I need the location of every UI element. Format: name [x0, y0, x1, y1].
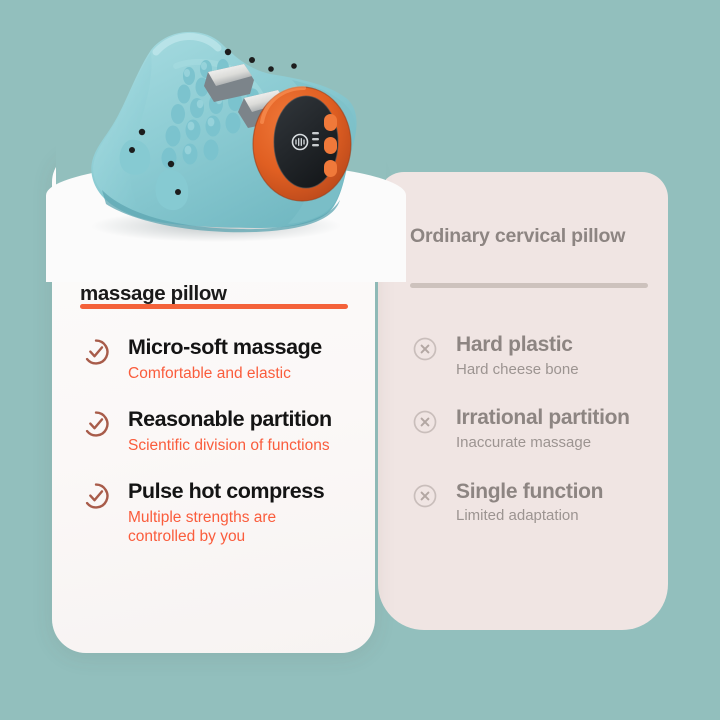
list-item-subtitle: Inaccurate massage [456, 434, 662, 453]
list-item-title: Pulse hot compress [128, 480, 382, 504]
check-circle-icon [82, 482, 110, 510]
list-item-title: Irrational partition [456, 406, 662, 430]
check-circle-icon [82, 338, 110, 366]
list-item: Reasonable partition Scientific division… [82, 408, 382, 456]
check-circle-icon [82, 410, 110, 438]
ordinary-card-divider [410, 283, 648, 288]
comparison-infographic: Ordinary cervical pillow Hard plastic Ha… [0, 0, 720, 720]
list-item-title: Single function [456, 480, 662, 504]
x-circle-icon [412, 409, 438, 435]
list-item: Single function Limited adaptation [412, 480, 662, 526]
product-photo [56, 14, 386, 254]
list-item: Irrational partition Inaccurate massage [412, 406, 662, 452]
list-item-title: Reasonable partition [128, 408, 382, 432]
list-item-subtitle: Multiple strengths are controlled by you [128, 509, 328, 547]
list-item-subtitle: Scientific division of functions [128, 437, 382, 456]
x-circle-icon [412, 483, 438, 509]
list-item: Hard plastic Hard cheese bone [412, 333, 662, 379]
x-circle-icon [412, 336, 438, 362]
ordinary-card-title: Ordinary cervical pillow [410, 224, 650, 248]
list-item-subtitle: Hard cheese bone [456, 361, 662, 380]
list-item-subtitle: Comfortable and elastic [128, 365, 328, 384]
list-item-subtitle: Limited adaptation [456, 507, 662, 526]
list-item-title: Hard plastic [456, 333, 662, 357]
new-pillow-feature-list: Micro-soft massage Comfortable and elast… [82, 336, 382, 546]
list-item: Pulse hot compress Multiple strengths ar… [82, 480, 382, 546]
ordinary-card-header: Ordinary cervical pillow [410, 224, 650, 248]
list-item: Micro-soft massage Comfortable and elast… [82, 336, 382, 384]
new-pillow-card-divider [80, 304, 348, 309]
cervical-massage-pillow-illustration [56, 14, 386, 254]
ordinary-feature-list: Hard plastic Hard cheese bone Irrational… [412, 333, 662, 526]
list-item-title: Micro-soft massage [128, 336, 382, 360]
